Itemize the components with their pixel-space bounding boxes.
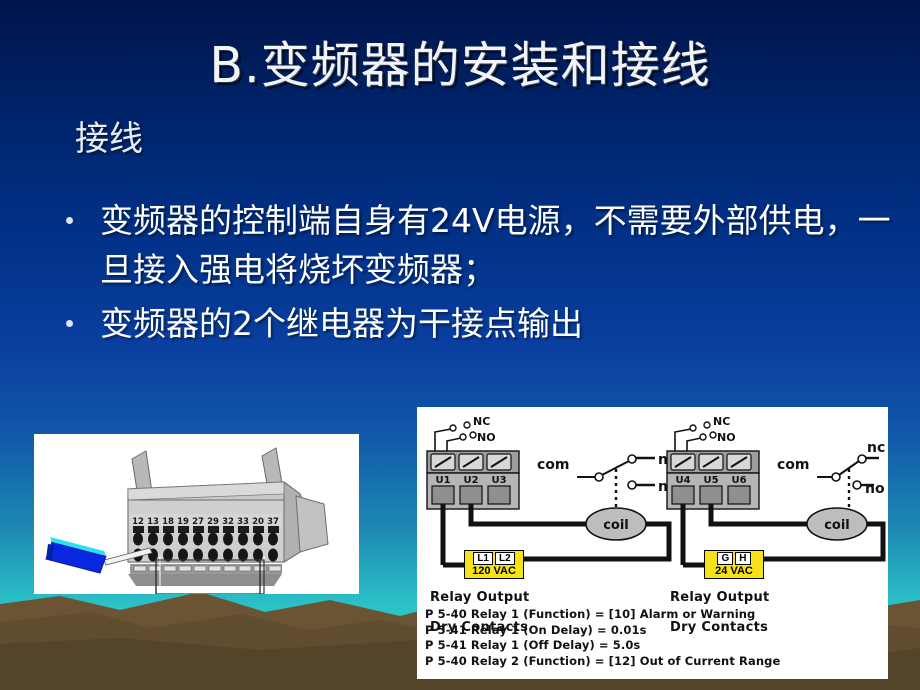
relay-caption-line: Relay Output [430, 590, 530, 605]
svg-text:U5: U5 [703, 475, 718, 486]
bullet-list: 变频器的控制端自身有24V电源，不需要外部供电，一旦接入强电将烧坏变频器； 变频… [52, 196, 892, 348]
svg-text:33: 33 [237, 517, 249, 527]
relay-wiring-diagram: NC NO U1U2U3 com [417, 407, 888, 679]
svg-text:U3: U3 [491, 475, 506, 486]
svg-text:27: 27 [192, 517, 204, 527]
svg-text:19: 19 [177, 517, 189, 527]
svg-text:18: 18 [162, 517, 174, 527]
parameter-line: P 5-41 Relay 1 (Off Delay) = 5.0s [425, 638, 885, 654]
svg-text:coil: coil [824, 518, 850, 533]
parameter-line: P 5-40 Relay 1 (Function) = [10] Alarm o… [425, 607, 885, 623]
page-subtitle: 接线 [75, 118, 143, 160]
svg-text:NO: NO [477, 431, 496, 444]
relay-caption-line: Relay Output [670, 590, 770, 605]
svg-text:32: 32 [222, 517, 234, 527]
svg-text:U1: U1 [435, 475, 450, 486]
terminal-block-image: 121318 192729 323320 37 [34, 434, 359, 594]
parameter-list: P 5-40 Relay 1 (Function) = [10] Alarm o… [425, 607, 885, 669]
svg-text:U2: U2 [463, 475, 478, 486]
svg-text:NC: NC [473, 415, 490, 428]
page-title: B.变频器的安装和接线 [0, 38, 920, 94]
supply-terminal: H [735, 552, 750, 565]
slide-canvas: B.变频器的安装和接线 接线 变频器的控制端自身有24V电源，不需要外部供电，一… [0, 0, 920, 690]
svg-text:NC: NC [713, 415, 730, 428]
svg-text:U4: U4 [675, 475, 690, 486]
bullet-text: 变频器的控制端自身有24V电源，不需要外部供电，一旦接入强电将烧坏变频器； [100, 201, 891, 289]
supply-terminal: L1 [473, 552, 493, 565]
terminal-block-illustration: 121318 192729 323320 37 [34, 434, 359, 594]
svg-text:20: 20 [252, 517, 264, 527]
supply-terminal-row: L1 L2 [465, 551, 523, 565]
bullet-text: 变频器的2个继电器为干接点输出 [100, 304, 583, 343]
svg-text:U6: U6 [731, 475, 746, 486]
bullet-dot-icon [66, 320, 73, 327]
svg-text:29: 29 [207, 517, 219, 527]
svg-text:12: 12 [132, 517, 144, 527]
svg-text:no: no [865, 481, 885, 497]
list-item: 变频器的2个继电器为干接点输出 [52, 299, 892, 348]
svg-text:coil: coil [603, 518, 629, 533]
svg-text:com: com [537, 457, 570, 473]
supply-terminal-row: G H [705, 551, 763, 565]
svg-text:NO: NO [717, 431, 736, 444]
svg-text:13: 13 [147, 517, 159, 527]
svg-text:com: com [777, 457, 810, 473]
bullet-dot-icon [66, 217, 73, 224]
parameter-line: P 5-41 Relay 1 (On Delay) = 0.01s [425, 623, 885, 639]
parameter-line: P 5-40 Relay 2 (Function) = [12] Out of … [425, 654, 885, 670]
supply-terminal: G [717, 552, 733, 565]
svg-text:nc: nc [867, 440, 885, 456]
list-item: 变频器的控制端自身有24V电源，不需要外部供电，一旦接入强电将烧坏变频器； [52, 196, 892, 294]
supply-terminal: L2 [495, 552, 515, 565]
svg-text:37: 37 [267, 517, 279, 527]
